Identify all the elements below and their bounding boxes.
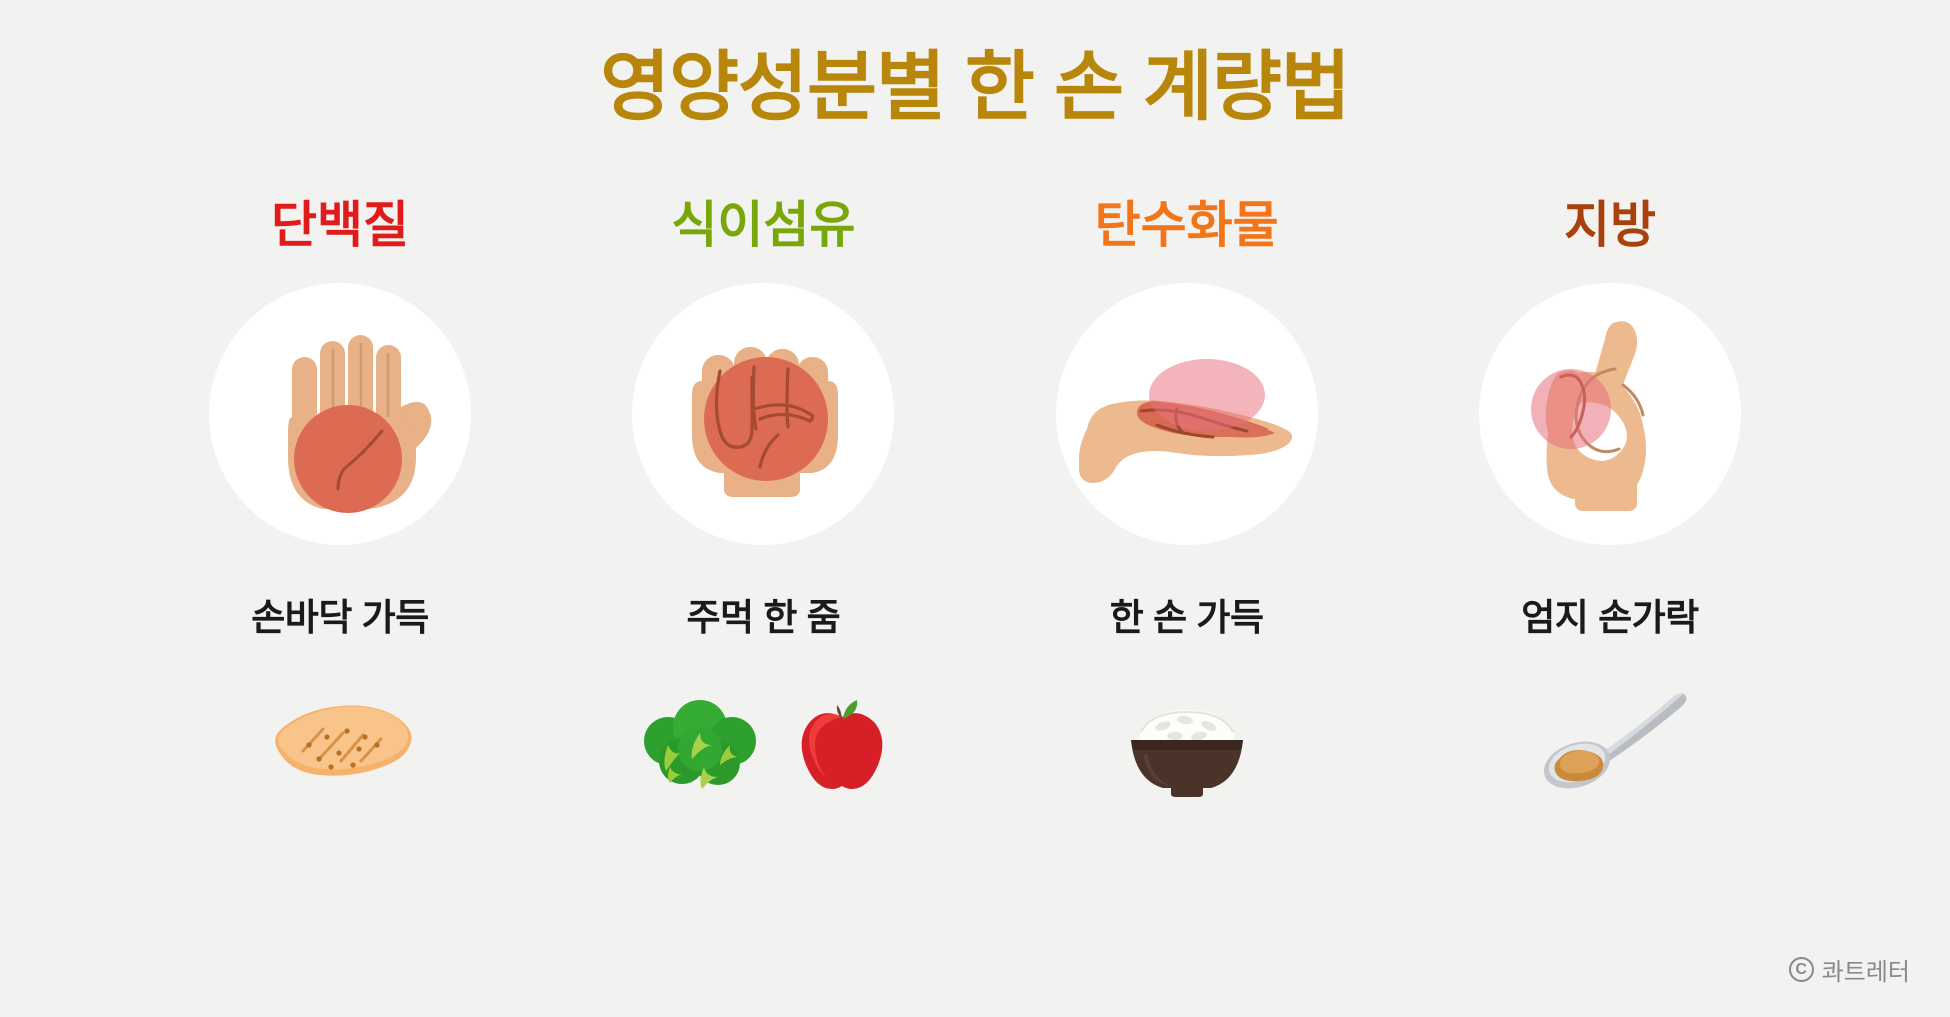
nutrient-label-carb: 탄수화물	[1095, 195, 1279, 259]
food-row-fiber	[634, 683, 892, 803]
rice-bowl-icon	[1117, 688, 1257, 798]
hand-circle-fat	[1479, 283, 1741, 545]
food-row-protein	[265, 683, 415, 803]
hand-circle-protein	[209, 283, 471, 545]
page-title: 영양성분별 한 손 계량법	[0, 44, 1950, 131]
food-row-fat	[1525, 683, 1695, 803]
nutrient-label-fat: 지방	[1564, 195, 1656, 259]
nutrient-column-carb: 탄수화물	[977, 195, 1397, 803]
closed-fist-hand-icon	[658, 309, 868, 519]
broccoli-icon	[634, 693, 774, 793]
measure-caption-carb: 한 손 가득	[1110, 587, 1264, 641]
copyright-text: 콰트레터	[1822, 952, 1910, 987]
measure-caption-fiber: 주먹 한 줌	[686, 587, 840, 641]
hand-circle-carb	[1056, 283, 1318, 545]
grilled-chicken-breast-icon	[265, 693, 415, 793]
hand-circle-fiber	[632, 283, 894, 545]
thumb-hand-icon	[1505, 307, 1715, 522]
nutrient-column-fat: 지방	[1400, 195, 1820, 803]
spoon-with-sauce-icon	[1525, 683, 1695, 803]
food-row-carb	[1117, 683, 1257, 803]
nutrient-columns: 단백질	[130, 195, 1820, 803]
open-palm-hand-icon	[235, 309, 445, 519]
apple-icon	[792, 693, 892, 793]
nutrient-column-protein: 단백질	[130, 195, 550, 803]
measure-caption-fat: 엄지 손가락	[1521, 587, 1698, 641]
copyright-icon: C	[1789, 957, 1814, 982]
copyright-watermark: C 콰트레터	[1789, 952, 1910, 987]
cupped-hand-icon	[1079, 309, 1294, 519]
nutrient-label-protein: 단백질	[271, 195, 409, 259]
nutrient-column-fiber: 식이섬유	[553, 195, 973, 803]
nutrient-label-fiber: 식이섬유	[671, 195, 855, 259]
measure-caption-protein: 손바닥 가득	[251, 587, 428, 641]
